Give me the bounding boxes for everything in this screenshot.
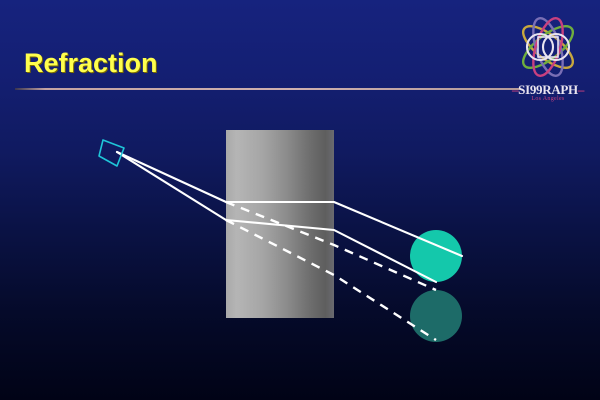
wordmark-text: SI99RAPH (518, 82, 578, 97)
title-divider (15, 88, 520, 90)
refracted-ray-upper (117, 152, 462, 256)
logo-city-label: Los Angeles (500, 96, 596, 102)
siggraph-rings-icon (500, 10, 596, 84)
page-title: Refraction (24, 48, 158, 79)
slide-canvas: Refraction –SI99RAPH– Los Angeles (0, 0, 600, 400)
virtual-ray-lower (226, 220, 436, 340)
virtual-ray-upper (226, 202, 436, 290)
refracted-ray-lower (117, 152, 436, 282)
siggraph-logo: –SI99RAPH– Los Angeles (500, 10, 596, 106)
wordmark-dash-right: – (578, 82, 584, 97)
